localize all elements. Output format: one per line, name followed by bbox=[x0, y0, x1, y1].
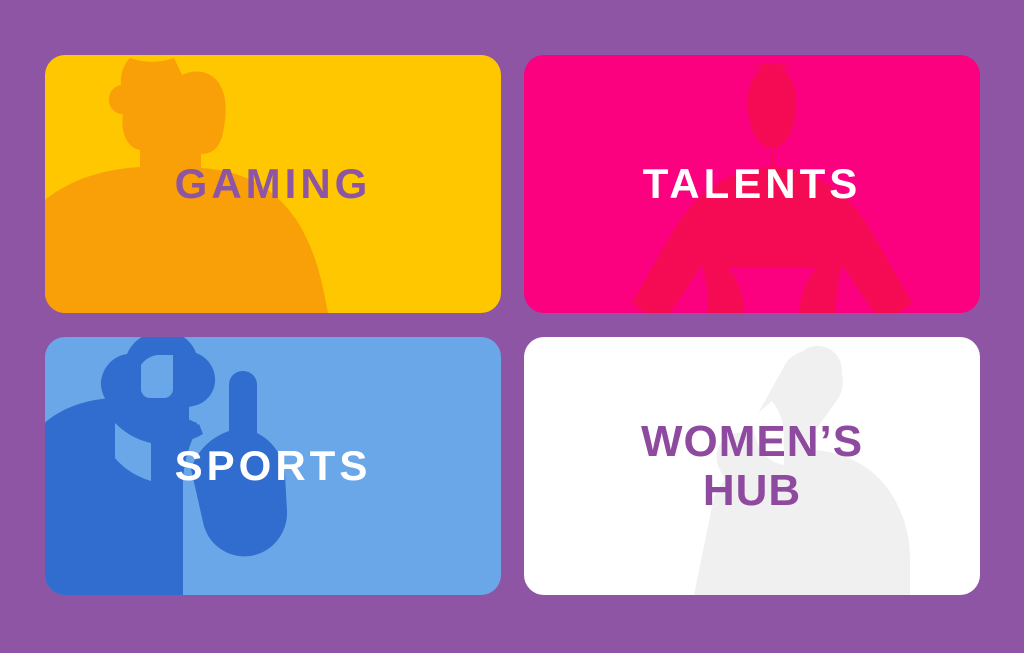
card-womens-hub[interactable]: WOMEN’S HUB bbox=[524, 337, 980, 595]
card-label-womens-hub: WOMEN’S HUB bbox=[627, 417, 877, 516]
card-label-sports: SPORTS bbox=[161, 442, 386, 489]
category-cards-page: GAMING TALENTS bbox=[0, 0, 1024, 653]
card-sports[interactable]: SPORTS bbox=[45, 337, 501, 595]
card-label-talents: TALENTS bbox=[629, 160, 876, 207]
card-grid: GAMING TALENTS bbox=[45, 55, 980, 595]
card-talents[interactable]: TALENTS bbox=[524, 55, 980, 313]
card-gaming[interactable]: GAMING bbox=[45, 55, 501, 313]
card-label-gaming: GAMING bbox=[161, 160, 386, 207]
